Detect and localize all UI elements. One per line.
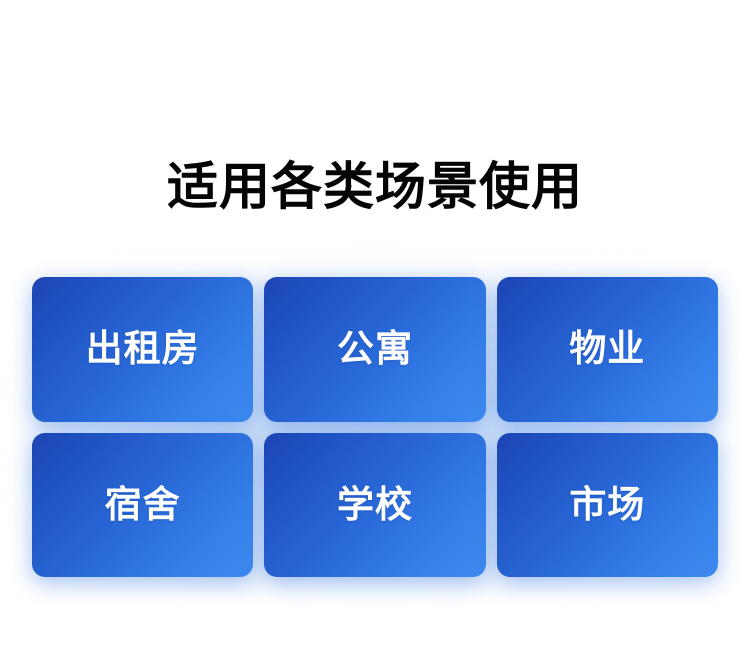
scenarios-promo-page: 适用各类场景使用 出租房 公寓 物业 宿舍 学校 市场 [0, 0, 750, 649]
scenario-card-property-management[interactable]: 物业 [497, 277, 718, 422]
scenario-card-label: 出租房 [86, 328, 200, 370]
scenario-card-rental-house[interactable]: 出租房 [32, 277, 253, 422]
scenario-card-label: 市场 [569, 484, 645, 526]
scenario-card-label: 公寓 [337, 328, 413, 370]
scenario-card-school[interactable]: 学校 [264, 433, 485, 578]
page-title-container: 适用各类场景使用 [0, 118, 750, 256]
scenario-card-apartment[interactable]: 公寓 [264, 277, 485, 422]
scenario-card-dormitory[interactable]: 宿舍 [32, 433, 253, 578]
scenario-card-label: 学校 [337, 484, 413, 526]
scenario-card-label: 物业 [569, 328, 645, 370]
scenario-card-market[interactable]: 市场 [497, 433, 718, 578]
page-title: 适用各类场景使用 [167, 152, 583, 222]
scenario-card-label: 宿舍 [105, 484, 181, 526]
scenario-card-grid: 出租房 公寓 物业 宿舍 学校 市场 [32, 277, 718, 577]
